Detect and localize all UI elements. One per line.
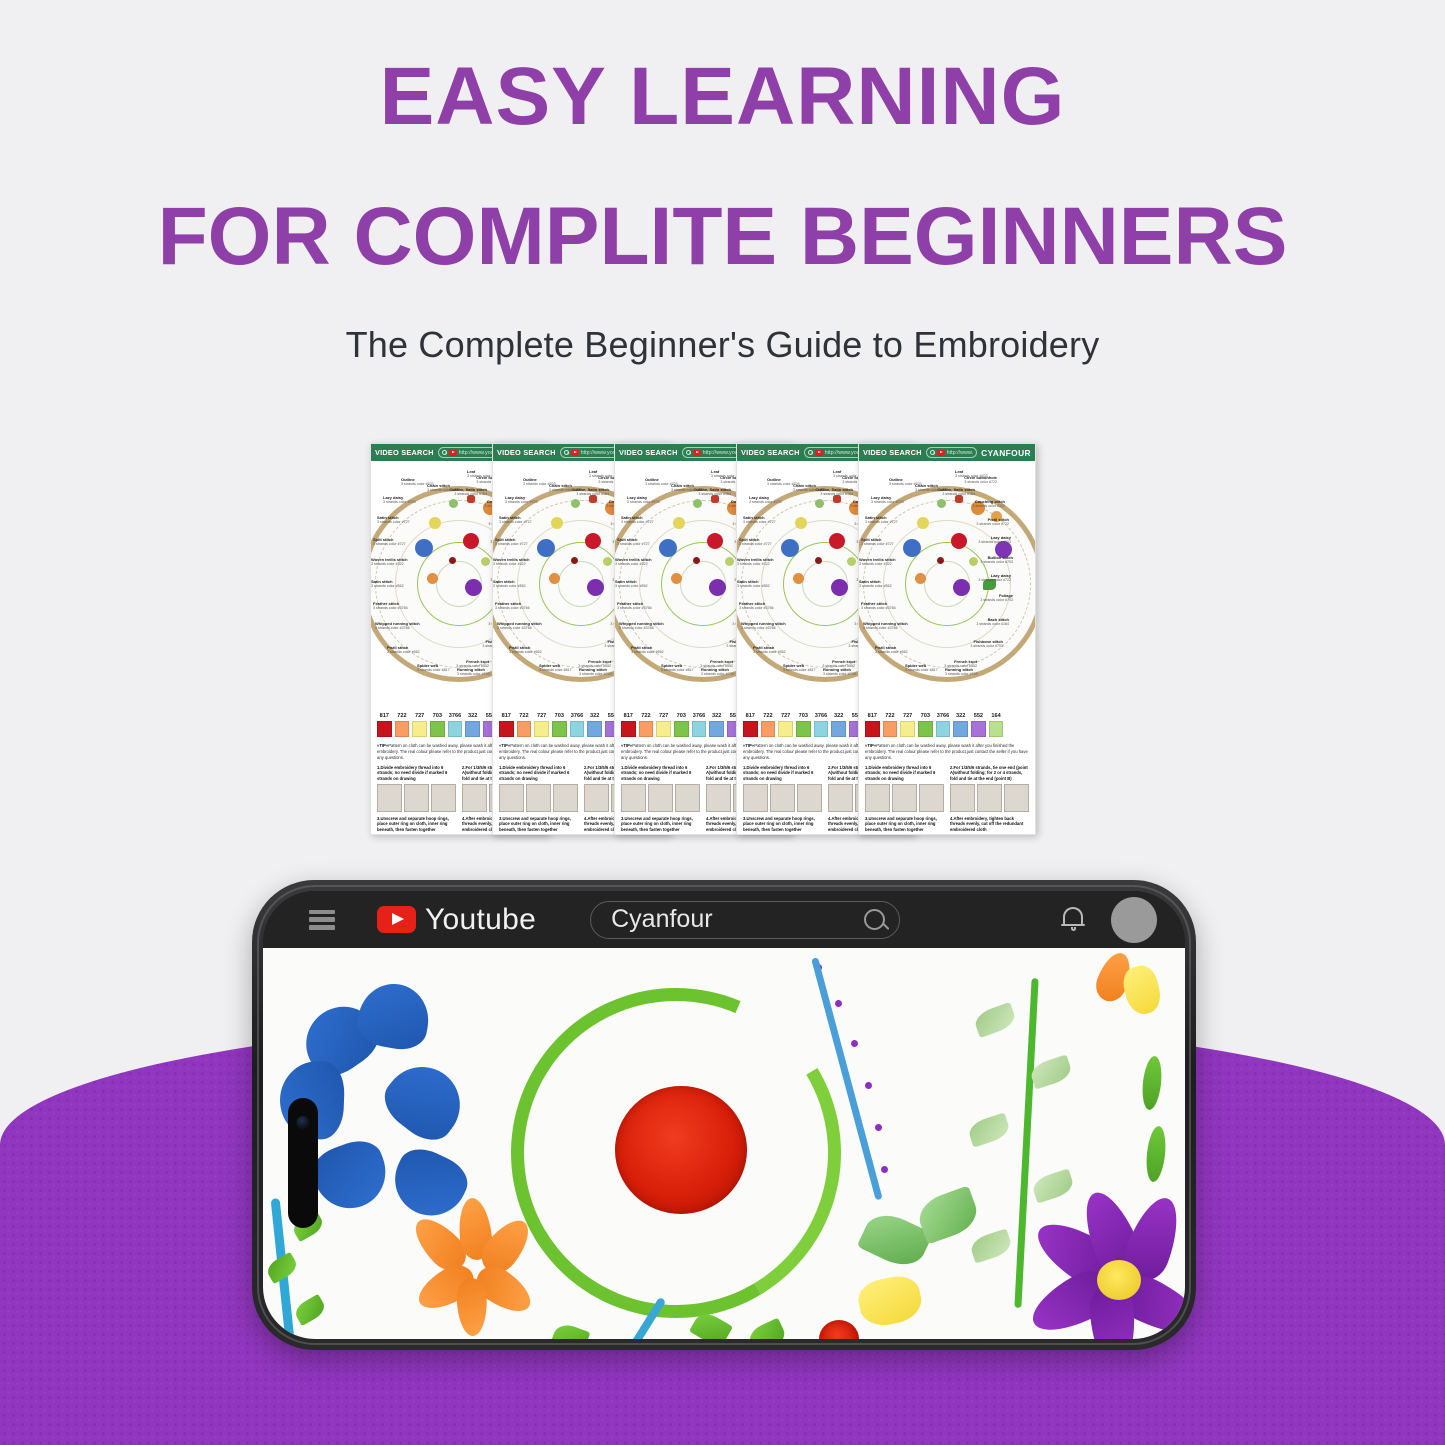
stitch-label: Spider web3 strands color #817 xyxy=(783,663,816,672)
color-swatch: 3766 xyxy=(692,713,707,737)
stitch-label: Satin stitch3 strands color #552 xyxy=(615,579,648,588)
stitch-label: Split stitch3 strands color #727 xyxy=(373,537,406,546)
stitch-motif xyxy=(693,499,702,508)
stitch-motif xyxy=(537,539,555,557)
video-search-label: VIDEO SEARCH xyxy=(863,448,922,457)
color-code: 727 xyxy=(656,713,671,719)
color-code: 722 xyxy=(395,713,410,719)
video-search-label: VIDEO SEARCH xyxy=(619,448,678,457)
stitch-label: Woven trellis stitch3 strands color #322 xyxy=(371,557,408,566)
embroidery-orange-petal xyxy=(456,1277,488,1336)
step-images xyxy=(499,784,578,812)
search-icon xyxy=(686,450,691,455)
color-chip xyxy=(814,721,829,737)
stitch-motif xyxy=(709,579,726,596)
color-code: 703 xyxy=(918,713,933,719)
stitch-label: Woven trellis stitch3 strands color #322 xyxy=(859,557,896,566)
embroidery-blue-petal xyxy=(375,1052,476,1151)
color-swatch: 703 xyxy=(918,713,933,737)
color-swatch: 703 xyxy=(796,713,811,737)
stitch-label: Satin stitch3 strands color #552 xyxy=(859,579,892,588)
instruction-step: 1.Divide embroidery thread into 6 strand… xyxy=(377,765,456,816)
stitch-label: Foliage3 strands color #703 xyxy=(980,593,1013,602)
stitch-label: Lazy daisy3 strands color #703 xyxy=(871,495,904,504)
stitch-label: Spider web3 strands color #817 xyxy=(539,663,572,672)
stitch-label: Lazy daisy3 strands color #703 xyxy=(505,495,538,504)
stitch-motif xyxy=(915,573,926,584)
phone-screen: Youtube Cyanfour xyxy=(263,891,1185,1339)
color-swatch: 3766 xyxy=(814,713,829,737)
color-code: 3766 xyxy=(936,713,951,719)
color-chip xyxy=(448,721,463,737)
color-code: 727 xyxy=(900,713,915,719)
stitch-label: Satin stitch3 strands color #727 xyxy=(499,515,532,524)
search-input-value: Cyanfour xyxy=(611,905,864,934)
stitch-motif xyxy=(673,517,685,529)
stitch-label: Whipped running stitch3 strands color #3… xyxy=(619,621,664,630)
stitch-label: Feather stitch3 strands color #3766 xyxy=(617,601,652,610)
embroidery-yellow-stitch xyxy=(1120,963,1165,1018)
color-swatch: 3766 xyxy=(570,713,585,737)
step-photo xyxy=(743,784,768,812)
stitch-label: Split stitch3 strands color #727 xyxy=(861,537,894,546)
color-chip xyxy=(918,721,933,737)
stitch-label: Couching stitch3 strands color #322 xyxy=(972,499,1005,508)
search-icon xyxy=(930,450,935,455)
step-photo xyxy=(648,784,673,812)
stitch-label: Pistil stitch3 strands color #552 xyxy=(387,645,420,654)
color-chip xyxy=(552,721,567,737)
color-code: 722 xyxy=(883,713,898,719)
color-chip xyxy=(499,721,514,737)
color-code: 817 xyxy=(743,713,758,719)
color-chip xyxy=(900,721,915,737)
stitch-label: Satin stitch3 strands color #727 xyxy=(743,515,776,524)
stitch-motif xyxy=(903,539,921,557)
stitch-motif xyxy=(847,557,856,566)
color-swatch: 727 xyxy=(534,713,549,737)
color-code: 322 xyxy=(465,713,480,719)
stitch-motif xyxy=(481,557,490,566)
search-icon xyxy=(442,450,447,455)
color-swatch: 322 xyxy=(953,713,968,737)
stitch-label: Whipped running stitch3 strands color #3… xyxy=(375,621,420,630)
embroidery-leaf xyxy=(745,1318,789,1339)
color-code: 722 xyxy=(639,713,654,719)
stitch-motif xyxy=(829,533,845,549)
color-code: 817 xyxy=(865,713,880,719)
embroidery-bud xyxy=(1028,1054,1073,1089)
stitch-label: Whipped running stitch3 strands color #3… xyxy=(497,621,542,630)
step-photo xyxy=(865,784,890,812)
stitch-motif xyxy=(465,579,482,596)
instruction-sheet: VIDEO SEARCHhttp://www.youtube.com/@cyan… xyxy=(858,443,1036,835)
youtube-play-icon xyxy=(937,450,945,456)
step-text: 2.For 1/3/5/6 strands, tie one end (poin… xyxy=(950,765,1029,782)
stitch-label: Outline, Satin stitch3 strands color #16… xyxy=(571,487,609,496)
search-input[interactable]: Cyanfour xyxy=(590,901,900,939)
instruction-step: 2.For 1/3/5/6 strands, tie one end (poin… xyxy=(950,765,1029,816)
tip-text: «TIP»Pattern on cloth can be washed away… xyxy=(859,739,1035,763)
step-photo xyxy=(977,784,1002,812)
stitch-motif xyxy=(937,499,946,508)
stitch-label: Lazy daisy3 strands color #703 xyxy=(627,495,660,504)
stitch-motif xyxy=(815,557,822,564)
instruction-step: 1.Divide embroidery thread into 6 strand… xyxy=(865,765,944,816)
stitch-label: Pistil stitch3 strands color #552 xyxy=(875,645,908,654)
youtube-play-icon xyxy=(815,450,823,456)
color-chip xyxy=(412,721,427,737)
stitch-label: Woven trellis stitch3 strands color #322 xyxy=(737,557,774,566)
video-player-image[interactable] xyxy=(263,948,1185,1339)
step-text: 4.After embroidery, tighten back threads… xyxy=(950,816,1029,833)
stitch-label: Spider web3 strands color #817 xyxy=(417,663,450,672)
color-swatch: 817 xyxy=(743,713,758,737)
stitch-label: Woven trellis stitch3 strands color #322 xyxy=(615,557,652,566)
color-code: 817 xyxy=(377,713,392,719)
step-images xyxy=(621,784,700,812)
stitch-guide-diagram: Outline3 strands color #703Leaf3 strands… xyxy=(859,461,1035,707)
stitch-label: Spider web3 strands color #817 xyxy=(661,663,694,672)
stitch-motif xyxy=(571,499,580,508)
step-photo xyxy=(584,784,609,812)
instruction-step: 3.Unscrew and separate hoop rings, place… xyxy=(499,816,578,835)
instruction-step: 3.Unscrew and separate hoop rings, place… xyxy=(743,816,822,835)
step-photo xyxy=(377,784,402,812)
color-code: 727 xyxy=(778,713,793,719)
stitch-motif xyxy=(795,517,807,529)
stitch-label: Satin stitch3 strands color #552 xyxy=(371,579,404,588)
video-search-label: VIDEO SEARCH xyxy=(375,448,434,457)
sheet-header: VIDEO SEARCHhttp://www.youtube.com/@cyan… xyxy=(859,444,1035,461)
step-text: 1.Divide embroidery thread into 6 strand… xyxy=(621,765,700,782)
color-chip xyxy=(936,721,951,737)
embroidery-purple-knot xyxy=(851,1040,858,1047)
color-chip xyxy=(743,721,758,737)
stitch-motif xyxy=(429,517,441,529)
color-swatch: 3766 xyxy=(448,713,463,737)
avatar[interactable] xyxy=(1111,897,1157,943)
color-swatch: 703 xyxy=(430,713,445,737)
instruction-steps: 1.Divide embroidery thread into 6 strand… xyxy=(859,763,1035,835)
color-chip xyxy=(377,721,392,737)
color-swatch: 727 xyxy=(656,713,671,737)
page-header: EASY LEARNING FOR COMPLITE BEGINNERS The… xyxy=(0,0,1445,340)
stitch-label: Whipped running stitch3 strands color #3… xyxy=(863,621,908,630)
step-images xyxy=(743,784,822,812)
stitch-motif xyxy=(671,573,682,584)
stitch-label: Fishbone stitch3 strands color #703 xyxy=(970,639,1003,648)
color-chip xyxy=(534,721,549,737)
stitch-label: Lazy daisy3 strands color #703 xyxy=(749,495,782,504)
color-chip xyxy=(674,721,689,737)
color-swatch: 722 xyxy=(639,713,654,737)
color-swatch: 727 xyxy=(900,713,915,737)
step-photo xyxy=(404,784,429,812)
step-photo xyxy=(892,784,917,812)
color-code: 164 xyxy=(989,713,1004,719)
color-swatch: 322 xyxy=(709,713,724,737)
color-code: 322 xyxy=(587,713,602,719)
color-chip xyxy=(971,721,986,737)
stitch-label: Satin stitch3 strands color #552 xyxy=(493,579,526,588)
color-chip xyxy=(953,721,968,737)
stitch-label: Satin stitch3 strands color #552 xyxy=(737,579,770,588)
stitch-label: Feather stitch3 strands color #3766 xyxy=(495,601,530,610)
color-swatch: 703 xyxy=(674,713,689,737)
color-code: 322 xyxy=(831,713,846,719)
stitch-label: Feather stitch3 strands color #3766 xyxy=(739,601,774,610)
embroidery-yellow-stitch xyxy=(855,1272,925,1330)
stitch-motif xyxy=(603,557,612,566)
step-text: 3.Unscrew and separate hoop rings, place… xyxy=(499,816,578,833)
instruction-step: 1.Divide embroidery thread into 6 strand… xyxy=(499,765,578,816)
instruction-step: 1.Divide embroidery thread into 6 strand… xyxy=(743,765,822,816)
step-text: 3.Unscrew and separate hoop rings, place… xyxy=(743,816,822,833)
color-code: 703 xyxy=(430,713,445,719)
hamburger-icon[interactable] xyxy=(309,910,335,930)
step-photo xyxy=(675,784,700,812)
stitch-label: Split stitch3 strands color #727 xyxy=(495,537,528,546)
color-chip xyxy=(831,721,846,737)
stitch-motif xyxy=(449,557,456,564)
color-code: 3766 xyxy=(692,713,707,719)
color-chip xyxy=(570,721,585,737)
stitch-motif xyxy=(463,533,479,549)
stitch-motif xyxy=(781,539,799,557)
embroidery-bud xyxy=(966,1112,1011,1147)
stitch-motif xyxy=(571,557,578,564)
step-photo xyxy=(553,784,578,812)
stitch-label: Pistil stitch3 strands color #552 xyxy=(509,645,542,654)
color-code: 817 xyxy=(621,713,636,719)
embroidery-fern-leaf xyxy=(914,1185,983,1244)
embroidery-red-wheel xyxy=(615,1086,747,1214)
stitch-label: Lazy daisy3 strands color #722 xyxy=(978,573,1011,582)
stitch-label: Circle buttonhole3 strands color #722 xyxy=(964,475,997,484)
color-swatch: 722 xyxy=(883,713,898,737)
step-text: 3.Unscrew and separate hoop rings, place… xyxy=(865,816,944,833)
stitch-motif xyxy=(793,573,804,584)
sheet-url-bar[interactable]: http://www.youtube.com/@cyanfour xyxy=(926,447,977,458)
color-chip xyxy=(778,721,793,737)
stitch-motif xyxy=(725,557,734,566)
step-photo xyxy=(526,784,551,812)
stitch-label: Lazy daisy3 strands color #703 xyxy=(383,495,416,504)
embroidery-leaf xyxy=(264,1252,300,1284)
embroidery-green-vine xyxy=(1014,978,1038,1308)
color-code: 722 xyxy=(761,713,776,719)
instruction-step: 3.Unscrew and separate hoop rings, place… xyxy=(621,816,700,835)
stitch-label: Whipped running stitch3 strands color #3… xyxy=(741,621,786,630)
phone-frame: Youtube Cyanfour xyxy=(252,880,1196,1350)
stitch-label: Outline, Satin stitch3 strands color #16… xyxy=(937,487,975,496)
stitch-label: Outline, Satin stitch3 strands color #16… xyxy=(815,487,853,496)
embroidery-purple-knot xyxy=(881,1166,888,1173)
color-swatch: 722 xyxy=(395,713,410,737)
color-chip xyxy=(465,721,480,737)
stitch-label: Running stitch3 strands color #703 xyxy=(945,667,978,676)
color-swatch: 322 xyxy=(831,713,846,737)
stitch-motif xyxy=(917,517,929,529)
bell-icon[interactable] xyxy=(1061,906,1085,933)
step-photo xyxy=(919,784,944,812)
embroidery-blue-petal xyxy=(306,1134,396,1219)
color-code: 817 xyxy=(499,713,514,719)
dynamic-island xyxy=(288,1098,318,1228)
color-code: 322 xyxy=(709,713,724,719)
color-swatch: 164 xyxy=(989,713,1004,737)
embroidery-leaf xyxy=(292,1294,328,1326)
stitch-motif xyxy=(951,533,967,549)
color-swatch: 322 xyxy=(587,713,602,737)
step-photo xyxy=(1004,784,1029,812)
color-chip xyxy=(587,721,602,737)
color-swatch: 817 xyxy=(499,713,514,737)
phone-mockup: Youtube Cyanfour xyxy=(252,880,1196,1350)
page-title-line-1: EASY LEARNING xyxy=(0,0,1445,138)
step-images xyxy=(865,784,944,812)
color-code: 322 xyxy=(953,713,968,719)
stitch-label: Outline, Satin stitch3 strands color #16… xyxy=(693,487,731,496)
color-chip xyxy=(796,721,811,737)
stitch-motif xyxy=(659,539,677,557)
stitch-motif xyxy=(831,579,848,596)
embroidery-flower-center xyxy=(1097,1260,1141,1300)
page-subtitle: The Complete Beginner's Guide to Embroid… xyxy=(0,278,1445,366)
search-icon[interactable] xyxy=(864,909,885,930)
color-swatch: 3766 xyxy=(936,713,951,737)
color-chip xyxy=(989,721,1004,737)
embroidery-bud xyxy=(1030,1168,1075,1203)
stitch-label: Split stitch3 strands color #727 xyxy=(617,537,650,546)
youtube-logo[interactable]: Youtube xyxy=(377,903,536,937)
embroidery-bud xyxy=(972,1002,1018,1038)
step-images xyxy=(950,784,1029,812)
stitch-label: Satin stitch3 strands color #727 xyxy=(865,515,898,524)
stitch-label: Pistil stitch3 strands color #552 xyxy=(631,645,664,654)
search-icon xyxy=(564,450,569,455)
color-swatch: 817 xyxy=(377,713,392,737)
stitch-label: Satin stitch3 strands color #727 xyxy=(377,515,410,524)
color-chip xyxy=(430,721,445,737)
step-photo xyxy=(499,784,524,812)
color-swatch: 727 xyxy=(412,713,427,737)
stitch-label: Running stitch3 strands color #703 xyxy=(701,667,734,676)
sheet-url-text: http://www.youtube.com/@cyanfour xyxy=(947,450,973,456)
color-code: 3766 xyxy=(448,713,463,719)
embroidery-purple-knot xyxy=(875,1124,882,1131)
stitch-motif xyxy=(969,557,978,566)
step-photo xyxy=(462,784,487,812)
step-photo xyxy=(828,784,853,812)
embroidery-red-stitch xyxy=(819,1320,859,1339)
stitch-motif xyxy=(449,499,458,508)
embroidery-purple-knot xyxy=(835,1000,842,1007)
stitch-label: Back stitch3 strands color #164 xyxy=(976,617,1009,626)
stitch-label: Pistil stitch3 strands color #722 xyxy=(976,517,1009,526)
stitch-label: Running stitch3 strands color #703 xyxy=(823,667,856,676)
step-photo xyxy=(706,784,731,812)
step-photo xyxy=(770,784,795,812)
instruction-step: 3.Unscrew and separate hoop rings, place… xyxy=(377,816,456,835)
color-chip xyxy=(865,721,880,737)
youtube-play-icon xyxy=(449,450,457,456)
brand-logo-text: CYANFOUR xyxy=(981,448,1031,458)
step-text: 3.Unscrew and separate hoop rings, place… xyxy=(377,816,456,833)
step-photo xyxy=(431,784,456,812)
color-chip xyxy=(709,721,724,737)
color-swatch: 322 xyxy=(465,713,480,737)
step-text: 1.Divide embroidery thread into 6 strand… xyxy=(743,765,822,782)
embroidery-leaf xyxy=(550,1321,591,1339)
stitch-label: Bullion stitch3 strands color #703 xyxy=(980,555,1013,564)
youtube-play-icon xyxy=(377,906,416,933)
color-chip xyxy=(656,721,671,737)
instruction-sheet-stack: VIDEO SEARCHhttp://www.youtube.com/@cyan… xyxy=(370,443,1080,843)
thread-color-swatches: 8177227277033766322552164 xyxy=(859,707,1035,739)
color-swatch: 722 xyxy=(761,713,776,737)
embroidery-purple-knot xyxy=(865,1082,872,1089)
stitch-motif xyxy=(707,533,723,549)
color-code: 552 xyxy=(971,713,986,719)
step-photo xyxy=(621,784,646,812)
youtube-app-bar: Youtube Cyanfour xyxy=(263,891,1185,948)
stitch-motif xyxy=(815,499,824,508)
color-chip xyxy=(517,721,532,737)
step-text: 1.Divide embroidery thread into 6 strand… xyxy=(865,765,944,782)
step-photo xyxy=(950,784,975,812)
color-swatch: 727 xyxy=(778,713,793,737)
color-swatch: 817 xyxy=(865,713,880,737)
stitch-label: Feather stitch3 strands color #3766 xyxy=(861,601,896,610)
youtube-logo-text: Youtube xyxy=(425,903,536,937)
front-camera-icon xyxy=(297,1116,310,1129)
stitch-motif xyxy=(549,573,560,584)
youtube-play-icon xyxy=(571,450,579,456)
stitch-motif xyxy=(551,517,563,529)
stitch-label: Running stitch3 strands color #703 xyxy=(457,667,490,676)
step-text: 3.Unscrew and separate hoop rings, place… xyxy=(621,816,700,833)
stitch-label: Feather stitch3 strands color #3766 xyxy=(373,601,408,610)
search-icon xyxy=(808,450,813,455)
stitch-label: Woven trellis stitch3 strands color #322 xyxy=(493,557,530,566)
stitch-motif xyxy=(953,579,970,596)
stitch-label: Spider web3 strands color #817 xyxy=(905,663,938,672)
video-search-label: VIDEO SEARCH xyxy=(497,448,556,457)
stitch-motif xyxy=(585,533,601,549)
color-code: 703 xyxy=(796,713,811,719)
color-chip xyxy=(692,721,707,737)
stitch-label: Running stitch3 strands color #703 xyxy=(579,667,612,676)
embroidery-bud xyxy=(968,1228,1013,1263)
color-code: 3766 xyxy=(570,713,585,719)
embroidery-leaf-stroke xyxy=(1144,1125,1168,1183)
stitch-motif xyxy=(937,557,944,564)
color-swatch: 722 xyxy=(517,713,532,737)
stitch-motif xyxy=(427,573,438,584)
video-search-label: VIDEO SEARCH xyxy=(741,448,800,457)
youtube-play-icon xyxy=(693,450,701,456)
stitch-motif xyxy=(693,557,700,564)
color-code: 3766 xyxy=(814,713,829,719)
color-chip xyxy=(883,721,898,737)
color-code: 703 xyxy=(674,713,689,719)
color-code: 722 xyxy=(517,713,532,719)
step-photo xyxy=(797,784,822,812)
embroidery-leaf-stroke xyxy=(1140,1055,1164,1111)
stitch-label: Outline, Satin stitch3 strands color #16… xyxy=(449,487,487,496)
